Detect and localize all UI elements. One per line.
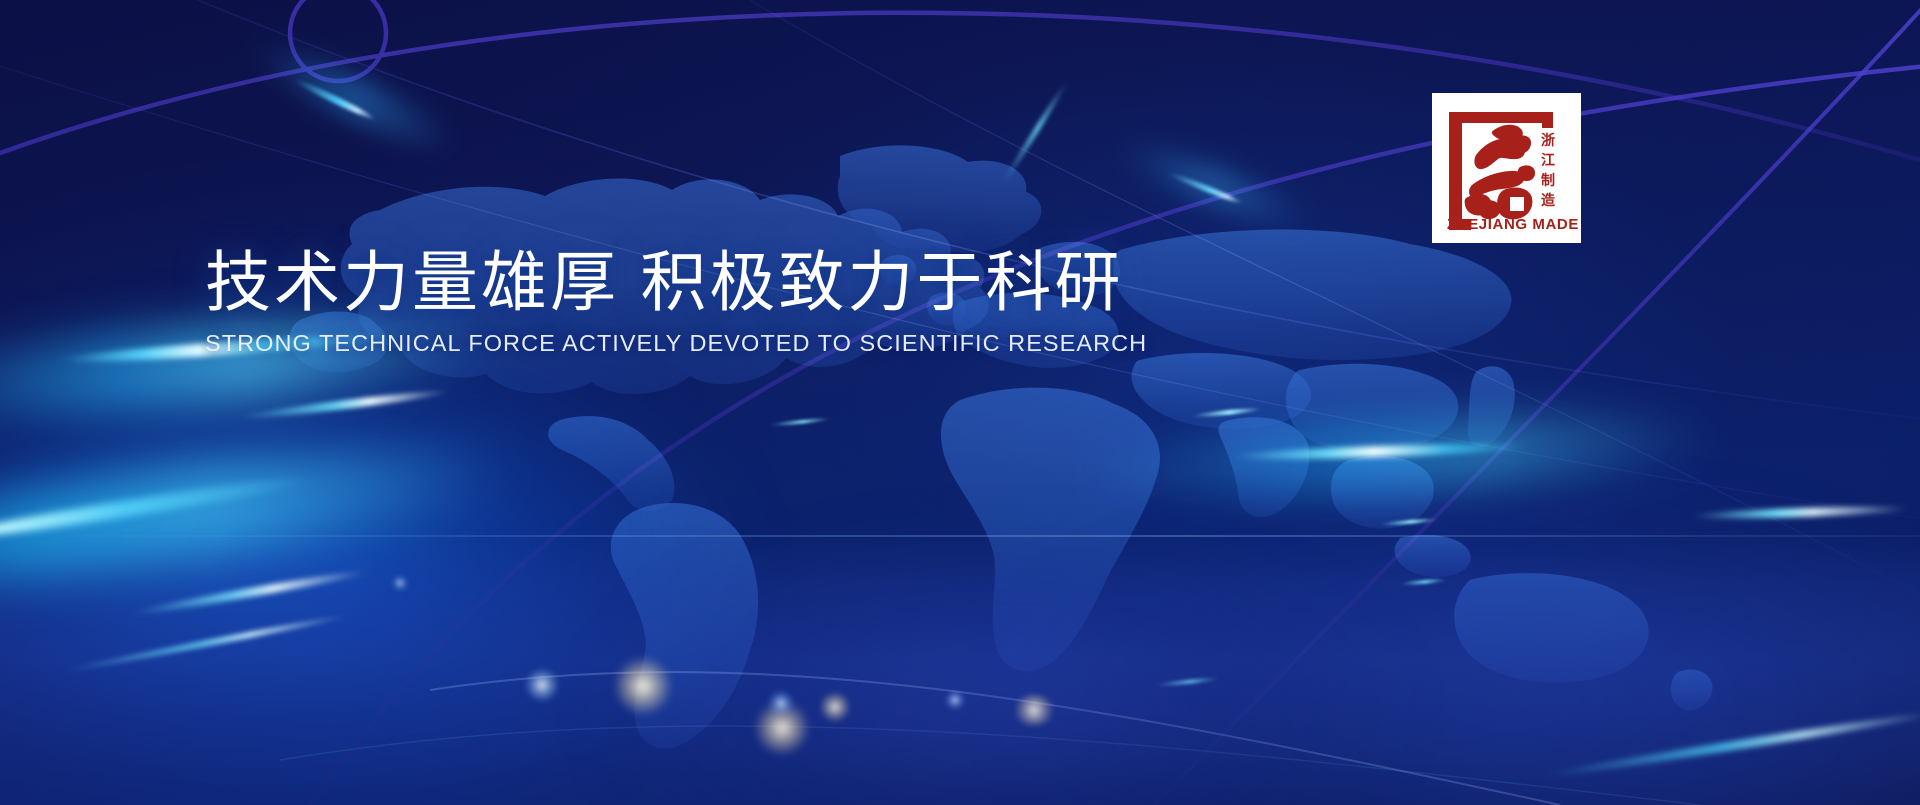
logo-cn-char-4: 造 (1541, 192, 1555, 209)
logo-en-text: ZHEJIANG MADE (1447, 216, 1579, 233)
logo-cn-char-1: 浙 (1541, 132, 1555, 149)
logo-cn-char-2: 江 (1541, 152, 1555, 169)
hero-banner: 技术力量雄厚 积极致力于科研 STRONG TECHNICAL FORCE AC… (0, 0, 1920, 805)
world-map-silhouette (0, 0, 1920, 805)
page-title: 技术力量雄厚 积极致力于科研 (205, 248, 1147, 318)
page-subtitle: STRONG TECHNICAL FORCE ACTIVELY DEVOTED … (205, 330, 1147, 357)
logo-cn-char-3: 制 (1541, 172, 1555, 189)
zhejiang-made-logo[interactable]: 浙 江 制 造 ZHEJIANG MADE (1432, 93, 1581, 243)
zhejiang-made-logo-svg: 浙 江 制 造 ZHEJIANG MADE (1432, 93, 1581, 243)
hero-text-block: 技术力量雄厚 积极致力于科研 STRONG TECHNICAL FORCE AC… (205, 248, 1147, 357)
